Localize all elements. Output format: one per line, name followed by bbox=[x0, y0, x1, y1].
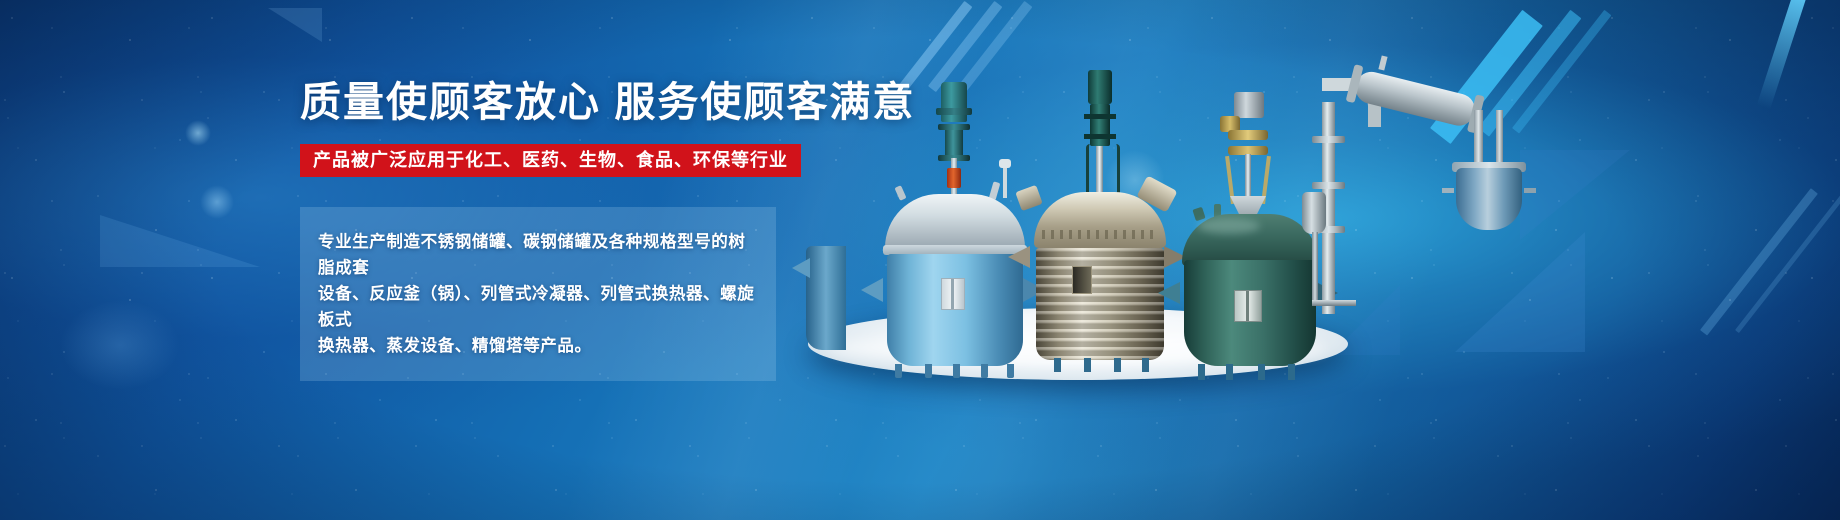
description-line: 专业生产制造不锈钢储罐、碳钢储罐及各种规格型号的树脂成套 bbox=[318, 229, 756, 281]
tube-condenser-assembly bbox=[1260, 50, 1590, 350]
stainless-coiled-reactor bbox=[1020, 70, 1180, 372]
banner-tagline-badge: 产品被广泛应用于化工、医药、生物、食品、环保等行业 bbox=[300, 144, 801, 177]
description-line: 设备、反应釜（锅）、列管式冷凝器、列管式换热器、螺旋板式 bbox=[318, 281, 756, 333]
banner-description: 专业生产制造不锈钢储罐、碳钢储罐及各种规格型号的树脂成套 设备、反应釜（锅）、列… bbox=[300, 207, 776, 381]
promo-banner: 质量使顾客放心 服务使顾客满意 产品被广泛应用于化工、医药、生物、食品、环保等行… bbox=[0, 0, 1840, 520]
description-line: 换热器、蒸发设备、精馏塔等产品。 bbox=[318, 333, 756, 359]
banner-headline: 质量使顾客放心 服务使顾客满意 bbox=[300, 82, 860, 123]
blue-jacketed-reactor bbox=[875, 82, 1035, 372]
partial-tank-edge bbox=[806, 246, 846, 350]
equipment-scene bbox=[790, 40, 1840, 400]
banner-copy: 质量使顾客放心 服务使顾客满意 产品被广泛应用于化工、医药、生物、食品、环保等行… bbox=[300, 82, 860, 381]
